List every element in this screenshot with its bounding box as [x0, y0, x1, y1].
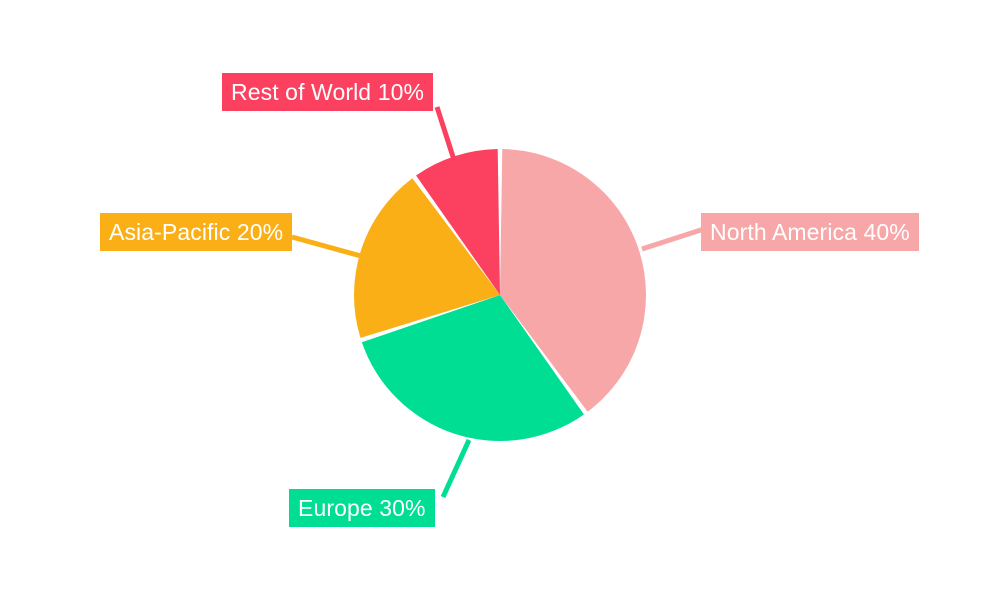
pie-chart-canvas — [0, 0, 1000, 600]
leader-line-north-america — [642, 228, 707, 249]
leader-line-europe — [443, 440, 469, 497]
pie-chart-figure: North America 40% Europe 30% Asia-Pacifi… — [0, 0, 1000, 600]
pie-slice-group — [354, 149, 646, 441]
slice-label-europe[interactable]: Europe 30% — [289, 489, 435, 527]
leader-line-asia-pacific — [292, 237, 361, 256]
slice-label-rest-of-world[interactable]: Rest of World 10% — [222, 73, 433, 111]
leader-line-rest-of-world — [437, 107, 455, 163]
slice-label-north-america[interactable]: North America 40% — [701, 213, 919, 251]
slice-label-asia-pacific[interactable]: Asia-Pacific 20% — [100, 213, 292, 251]
